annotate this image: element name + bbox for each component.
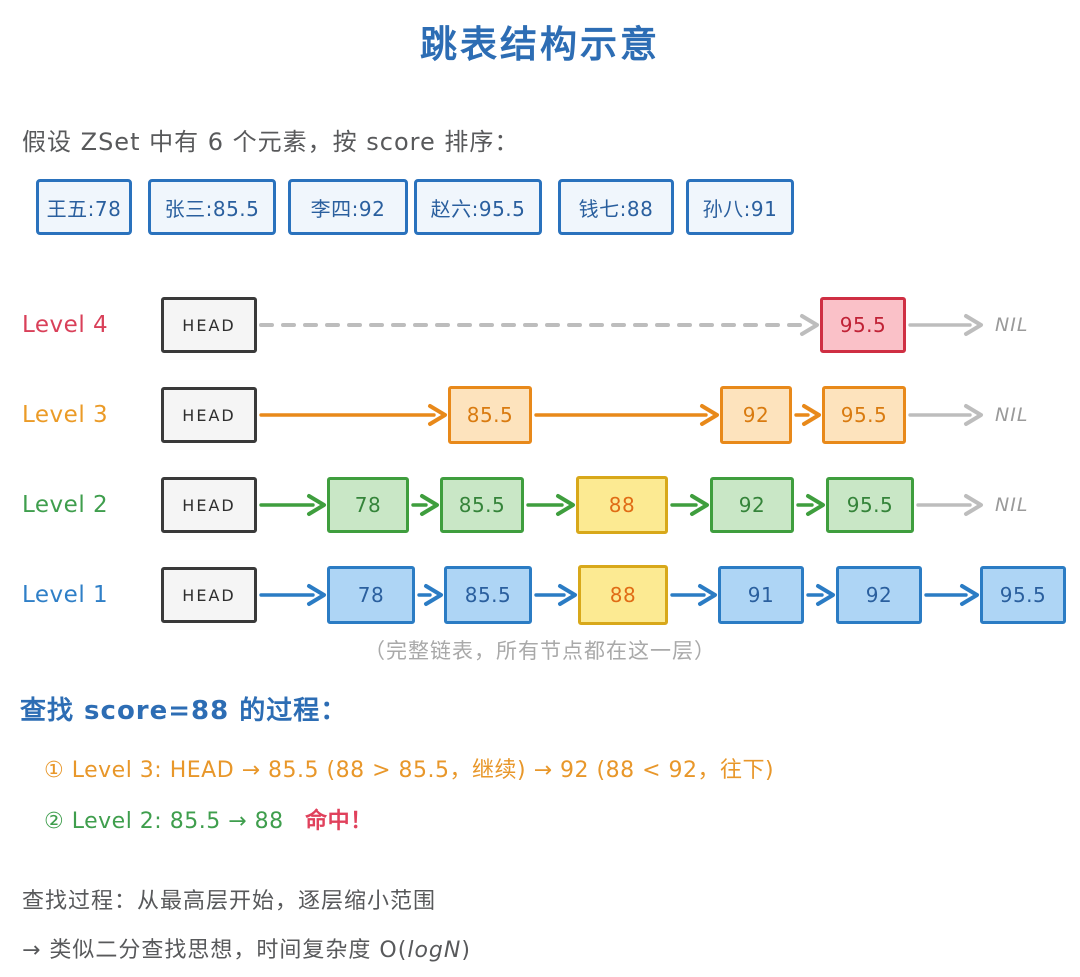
level-row-level-3: Level 3HEAD85.59295.5NIL [0, 378, 1080, 452]
element-chip: 钱七:88 [558, 179, 674, 235]
footer-line-2: → 类似二分查找思想，时间复杂度 O(logN) [22, 932, 471, 964]
head-node-level-1: HEAD [161, 567, 257, 623]
element-chip-row: 王五:78张三:85.5李四:92赵六:95.5钱七:88孙八:91 [18, 179, 1062, 241]
nil-label-level-2: NIL [995, 494, 1028, 516]
link-arrow-level-4-0 [261, 316, 817, 334]
skiplist-node: 85.5 [448, 386, 532, 444]
skiplist-node: 92 [836, 566, 922, 624]
link-arrow-level-1-0 [261, 586, 324, 604]
search-step-2-text: Level 2: 85.5 → 88 [72, 809, 284, 834]
nil-label-level-4: NIL [995, 314, 1028, 336]
complexity-value: logN [407, 938, 461, 963]
element-chip: 李四:92 [288, 179, 408, 235]
skiplist-node: 92 [710, 477, 794, 533]
head-node-level-2: HEAD [161, 477, 257, 533]
skiplist-node: 95.5 [826, 477, 914, 533]
link-arrow-level-2-1 [413, 496, 437, 514]
nil-label-level-3: NIL [995, 404, 1028, 426]
full-chain-note: （完整链表，所有节点都在这一层） [0, 635, 1080, 665]
search-step-1-marker: ① [44, 758, 64, 783]
link-arrow-level-2-0 [261, 496, 324, 514]
level-row-level-1: Level 1HEAD7885.588919295.5 [0, 558, 1080, 632]
head-node-level-4: HEAD [161, 297, 257, 353]
skiplist-node: 85.5 [444, 566, 532, 624]
skiplist-node: 95.5 [820, 297, 906, 353]
level-label-level-4: Level 4 [22, 312, 108, 338]
link-arrow-level-1-4 [808, 586, 833, 604]
link-arrow-level-3-0 [261, 406, 445, 424]
skiplist-node-highlighted: 88 [576, 476, 668, 534]
search-step-2: ② Level 2: 85.5 → 88 命中！ [44, 803, 373, 835]
link-arrow-level-2-3 [672, 496, 707, 514]
skiplist-node: 78 [327, 477, 409, 533]
link-arrow-level-3-nil [910, 406, 981, 424]
search-step-1: ① Level 3: HEAD → 85.5 (88 > 85.5，继续) → … [44, 752, 774, 784]
page-title: 跳表结构示意 [0, 14, 1080, 68]
level-row-level-4: Level 4HEAD95.5NIL [0, 288, 1080, 362]
link-arrow-level-1-3 [672, 586, 715, 604]
skiplist-node: 78 [327, 566, 415, 624]
element-chip: 王五:78 [36, 179, 132, 235]
search-hit-badge: 命中！ [305, 809, 373, 834]
link-arrow-level-3-2 [796, 406, 819, 424]
skiplist-node: 95.5 [822, 386, 906, 444]
link-arrow-level-3-1 [536, 406, 717, 424]
footer-line-1: 查找过程：从最高层开始，逐层缩小范围 [22, 883, 436, 915]
link-arrow-level-2-2 [528, 496, 573, 514]
complexity-suffix: ) [461, 938, 471, 963]
complexity-prefix: → 类似二分查找思想，时间复杂度 O( [22, 938, 407, 963]
link-arrow-level-2-4 [798, 496, 823, 514]
search-heading: 查找 score=88 的过程： [20, 690, 347, 727]
head-node-level-3: HEAD [161, 387, 257, 443]
element-chip: 张三:85.5 [148, 179, 276, 235]
skiplist-node: 85.5 [440, 477, 524, 533]
level-row-level-2: Level 2HEAD7885.5889295.5NIL [0, 468, 1080, 542]
level-label-level-3: Level 3 [22, 402, 108, 428]
skiplist-node: 92 [720, 386, 792, 444]
link-arrow-level-1-2 [536, 586, 575, 604]
level-label-level-1: Level 1 [22, 582, 108, 608]
link-arrow-level-4-nil [910, 316, 981, 334]
intro-text: 假设 ZSet 中有 6 个元素，按 score 排序： [22, 122, 519, 157]
skiplist-node-highlighted: 88 [578, 565, 668, 625]
level-label-level-2: Level 2 [22, 492, 108, 518]
search-step-1-text: Level 3: HEAD → 85.5 (88 > 85.5，继续) → 92… [72, 758, 774, 783]
element-chip: 孙八:91 [686, 179, 794, 235]
link-arrow-level-1-5 [926, 586, 977, 604]
element-chip: 赵六:95.5 [414, 179, 542, 235]
skiplist-node: 91 [718, 566, 804, 624]
skiplist-node: 95.5 [980, 566, 1066, 624]
link-arrow-level-1-1 [419, 586, 441, 604]
link-arrow-level-2-nil [918, 496, 981, 514]
search-step-2-marker: ② [44, 809, 64, 834]
